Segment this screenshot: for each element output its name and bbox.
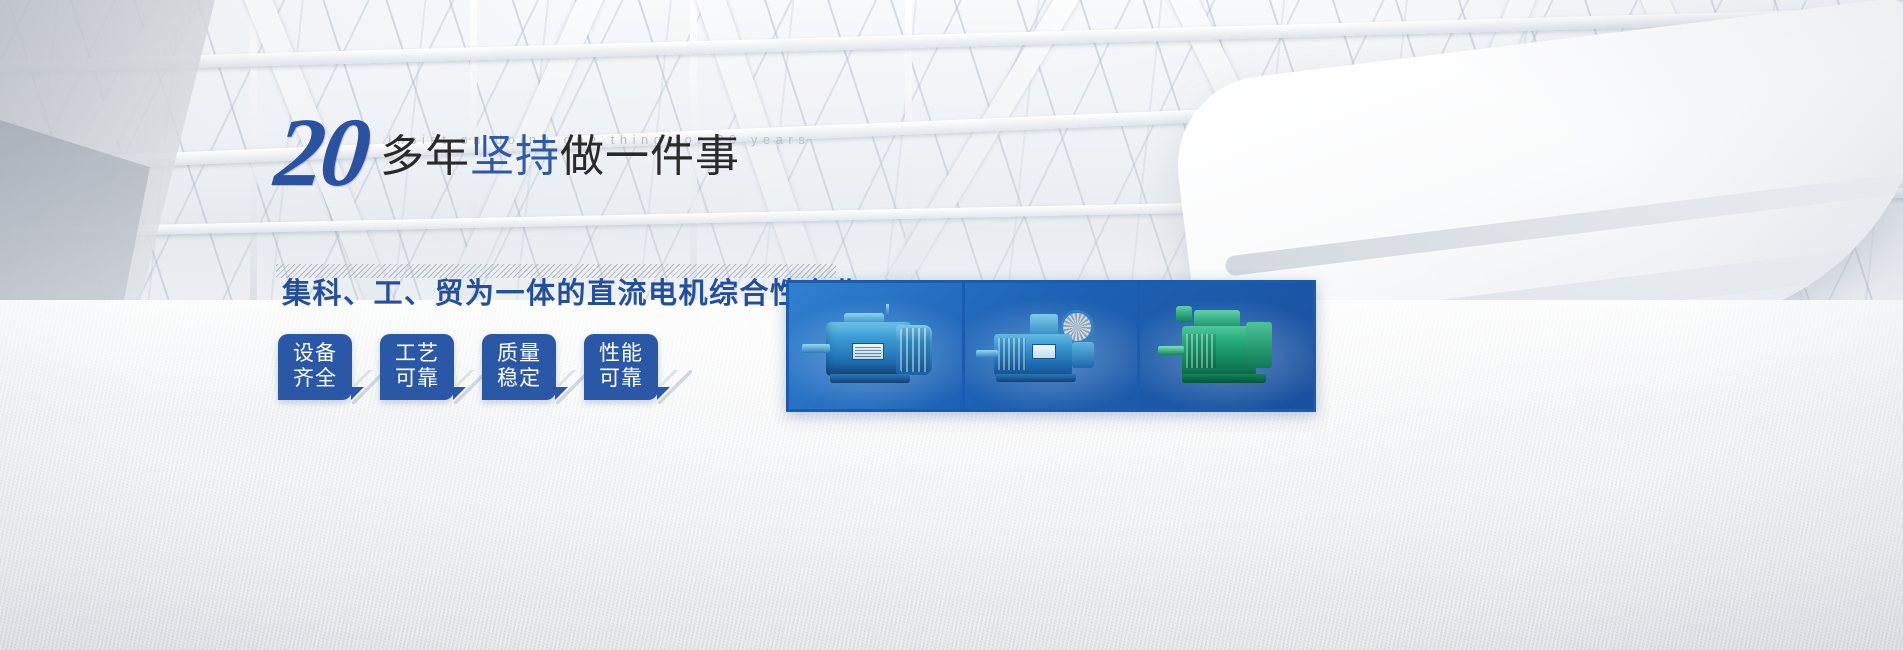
headline-prefix: 多年 (380, 132, 470, 181)
badge-line-2: 齐全 (293, 367, 337, 392)
motor-side-housing (1246, 322, 1272, 368)
subtitle: 集科、工、贸为一体的直流电机综合性企业 (282, 270, 862, 312)
headline-row: 20 Insist on doing one thing for 20 year… (276, 112, 916, 198)
feature-badge-list: 设备 齐全 工艺 可靠 质量 稳定 性能 可靠 (278, 334, 658, 400)
motor-duct (1072, 342, 1094, 368)
blue-dc-motor-image (800, 300, 950, 392)
headline-highlight: 坚持 (470, 132, 560, 181)
motor-pin (886, 304, 889, 316)
motor-base (830, 374, 910, 383)
motor-cooling-ribs (998, 338, 1026, 370)
feature-badge-equipment[interactable]: 设备 齐全 (278, 334, 352, 400)
badge-line-1: 设备 (293, 342, 337, 367)
headline-suffix: 做一件事 (560, 132, 740, 181)
motor-nameplate (1032, 344, 1056, 359)
badge-line-2: 可靠 (395, 367, 439, 392)
badge-line-2: 可靠 (599, 367, 643, 392)
hero-banner: 20 Insist on doing one thing for 20 year… (0, 0, 1903, 650)
badge-line-1: 性能 (599, 342, 643, 367)
badge-line-1: 工艺 (395, 342, 439, 367)
badge-line-1: 质量 (497, 342, 541, 367)
hero-copy-block: 20 Insist on doing one thing for 20 year… (276, 112, 916, 198)
product-cell-blue-motor-blower[interactable] (962, 283, 1138, 409)
motor-base (1182, 374, 1266, 383)
green-dc-motor-image (1152, 300, 1302, 392)
motor-shaft (802, 344, 830, 353)
badge-line-2: 稳定 (497, 367, 541, 392)
years-number: 20 (271, 104, 371, 202)
motor-cooling-ribs (900, 328, 930, 372)
motor-shaft (976, 350, 998, 358)
motor-knob (1176, 306, 1192, 322)
motor-shaft (1158, 346, 1184, 355)
blue-motor-with-blower-image (976, 300, 1126, 392)
product-cell-blue-dc-motor[interactable] (789, 283, 962, 409)
page-title: 多年坚持做一件事 (380, 134, 740, 180)
product-showcase-panel (786, 280, 1316, 412)
feature-badge-quality[interactable]: 质量 稳定 (482, 334, 556, 400)
motor-cooling-ribs (1186, 334, 1216, 368)
badge-slash-decor (658, 370, 692, 404)
product-cell-green-dc-motor[interactable] (1137, 283, 1313, 409)
feature-badge-performance[interactable]: 性能 可靠 (584, 334, 658, 400)
motor-nameplate (852, 343, 884, 360)
feature-badge-craft[interactable]: 工艺 可靠 (380, 334, 454, 400)
motor-base (996, 374, 1076, 382)
